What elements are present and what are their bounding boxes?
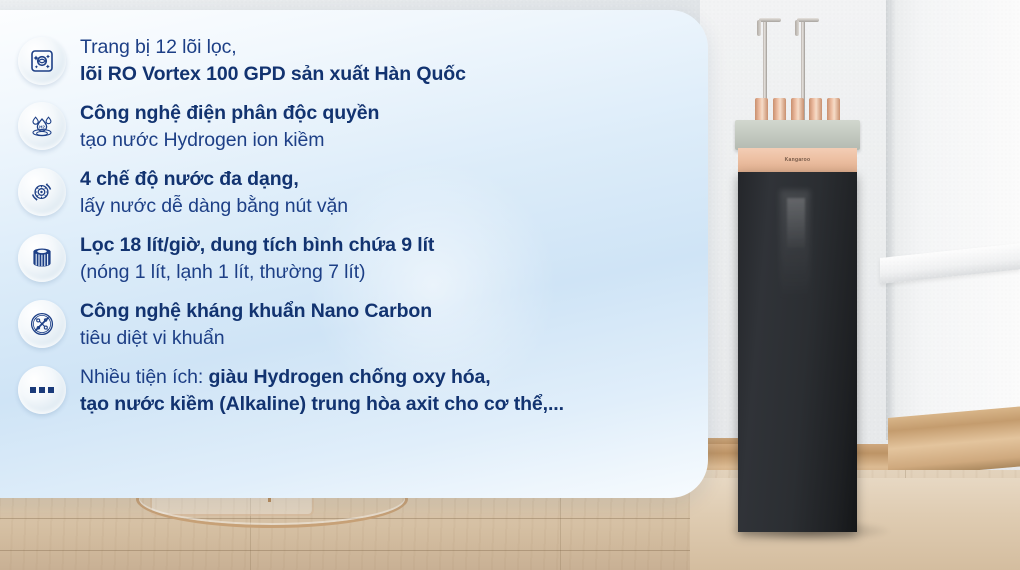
- feature-list-card: Trang bị 12 lõi lọc, lõi RO Vortex 100 G…: [0, 10, 708, 498]
- feature-text: Nhiều tiện ích: giàu Hydrogen chống oxy …: [80, 363, 564, 418]
- anti-bacteria-icon: [18, 300, 66, 348]
- hydrogen-water-drop-icon: H2: [18, 102, 66, 150]
- brand-band: Kangaroo: [738, 148, 857, 172]
- feature-text: Lọc 18 lít/giờ, dung tích bình chứa 9 lí…: [80, 231, 434, 286]
- feature-line-1: 4 chế độ nước đa dạng,: [80, 166, 348, 193]
- feature-list: Trang bị 12 lõi lọc, lõi RO Vortex 100 G…: [18, 34, 678, 418]
- purifier-top-plate: [735, 120, 860, 150]
- feature-line-2: tiêu diệt vi khuẩn: [80, 325, 432, 352]
- feature-line-1: Công nghệ điện phân độc quyền: [80, 100, 379, 127]
- faucet-neck: [797, 18, 819, 22]
- cabinet-highlight: [780, 190, 810, 300]
- feature-text: 4 chế độ nước đa dạng, lấy nước dễ dàng …: [80, 165, 348, 220]
- feature-line-2: lõi RO Vortex 100 GPD sản xuất Hàn Quốc: [80, 61, 466, 88]
- feature-line-1: Trang bị 12 lõi lọc,: [80, 34, 466, 61]
- feature-item-water-modes: 4 chế độ nước đa dạng, lấy nước dễ dàng …: [18, 165, 678, 220]
- feature-line-1: Lọc 18 lít/giờ, dung tích bình chứa 9 lí…: [80, 232, 434, 259]
- feature-item-electrolysis: H2 Công nghệ điện phân độc quyền tạo nướ…: [18, 99, 678, 154]
- feature-text: Công nghệ kháng khuẩn Nano Carbon tiêu d…: [80, 297, 432, 352]
- baseboard-far: [888, 406, 1020, 478]
- feature-item-capacity: Lọc 18 lít/giờ, dung tích bình chứa 9 lí…: [18, 231, 678, 286]
- feature-line-2: lấy nước dễ dàng bằng nút vặn: [80, 193, 348, 220]
- feature-text: Trang bị 12 lõi lọc, lõi RO Vortex 100 G…: [80, 34, 466, 88]
- more-options-icon: [18, 366, 66, 414]
- promo-banner: Kangaroo: [0, 0, 1020, 570]
- feature-line-1-prefix: Nhiều tiện ích:: [80, 366, 208, 388]
- brand-logo-text: Kangaroo: [785, 157, 811, 163]
- feature-line-2: tạo nước Hydrogen ion kiềm: [80, 127, 379, 154]
- feature-item-more-benefits: Nhiều tiện ích: giàu Hydrogen chống oxy …: [18, 363, 678, 418]
- feature-item-filter-cores: Trang bị 12 lõi lọc, lõi RO Vortex 100 G…: [18, 34, 678, 88]
- feature-item-antibacterial: Công nghệ kháng khuẩn Nano Carbon tiêu d…: [18, 297, 678, 352]
- faucet-neck: [759, 18, 781, 22]
- feature-text: Công nghệ điện phân độc quyền tạo nước H…: [80, 99, 379, 154]
- feature-line-2: (nóng 1 lít, lạnh 1 lít, thường 7 lít): [80, 259, 434, 286]
- sparkle-filter-icon: [18, 37, 66, 85]
- filter-cartridge-icon: [18, 234, 66, 282]
- feature-line-1: Nhiều tiện ích: giàu Hydrogen chống oxy …: [80, 364, 564, 391]
- svg-text:H2: H2: [39, 124, 45, 129]
- feature-line-2: tạo nước kiềm (Alkaline) trung hòa axit …: [80, 391, 564, 418]
- water-purifier-product: Kangaroo: [735, 2, 875, 537]
- faucet-tip: [795, 20, 799, 36]
- feature-line-1: Công nghệ kháng khuẩn Nano Carbon: [80, 298, 432, 325]
- feature-line-1-emphasis: giàu Hydrogen chống oxy hóa,: [208, 366, 490, 388]
- water-modes-dial-icon: [18, 168, 66, 216]
- faucet-tip: [757, 20, 761, 36]
